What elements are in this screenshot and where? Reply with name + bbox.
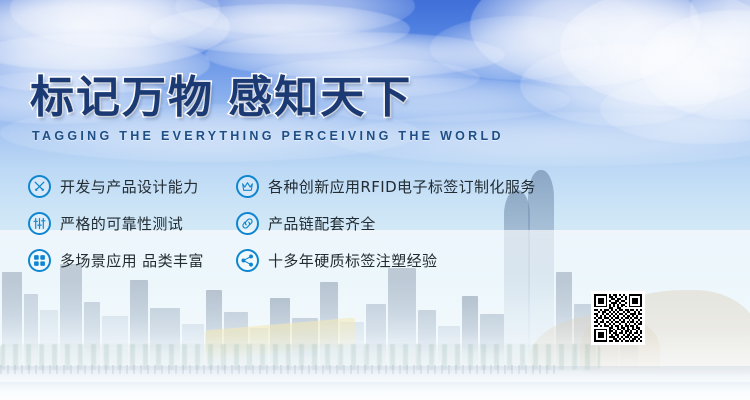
tools-icon [28, 175, 51, 198]
cloud-shape [560, 0, 750, 106]
feature-label: 各种创新应用RFID电子标签订制化服务 [268, 176, 536, 197]
link-icon [236, 212, 259, 235]
feature-label: 产品链配套齐全 [268, 213, 376, 234]
cloud-shape [470, 0, 700, 86]
qr-code-matrix [594, 294, 642, 342]
cloud-shape [520, 44, 720, 126]
feature-item: 严格的可靠性测试 [28, 205, 204, 242]
cloud-shape [0, 0, 230, 70]
feature-item: 产品链配套齐全 [236, 205, 536, 242]
promotional-banner: 标记万物 感知天下 TAGGING THE EVERYTHING PERCEIV… [0, 0, 750, 400]
page-title: 标记万物 感知天下 [30, 76, 412, 120]
share-icon [236, 249, 259, 272]
cloud-shape [430, 16, 600, 80]
sliders-icon [28, 212, 51, 235]
water [0, 382, 750, 400]
grid-icon [28, 249, 51, 272]
feature-item: 开发与产品设计能力 [28, 168, 204, 205]
feature-label: 多场景应用 品类丰富 [60, 250, 204, 271]
cloud-shape [600, 74, 750, 144]
feature-item: 十多年硬质标签注塑经验 [236, 242, 536, 279]
feature-item: 多场景应用 品类丰富 [28, 242, 204, 279]
cloud-shape [10, 0, 220, 48]
feature-label: 十多年硬质标签注塑经验 [268, 250, 437, 271]
feature-column-right: 各种创新应用RFID电子标签订制化服务 产品链配套齐全 [236, 168, 536, 279]
feature-column-left: 开发与产品设计能力 严格的可靠性测试 [28, 168, 204, 279]
cloud-shape [150, 4, 410, 54]
crown-icon [236, 175, 259, 198]
qr-code[interactable] [591, 291, 645, 345]
feature-label: 开发与产品设计能力 [60, 176, 199, 197]
page-subtitle: TAGGING THE EVERYTHING PERCEIVING THE WO… [32, 129, 504, 143]
feature-item: 各种创新应用RFID电子标签订制化服务 [236, 168, 536, 205]
feature-label: 严格的可靠性测试 [60, 213, 183, 234]
cloud-shape [175, 0, 415, 36]
cloud-shape [690, 0, 750, 60]
cloud-shape [205, 32, 505, 78]
cloud-shape [640, 10, 750, 120]
